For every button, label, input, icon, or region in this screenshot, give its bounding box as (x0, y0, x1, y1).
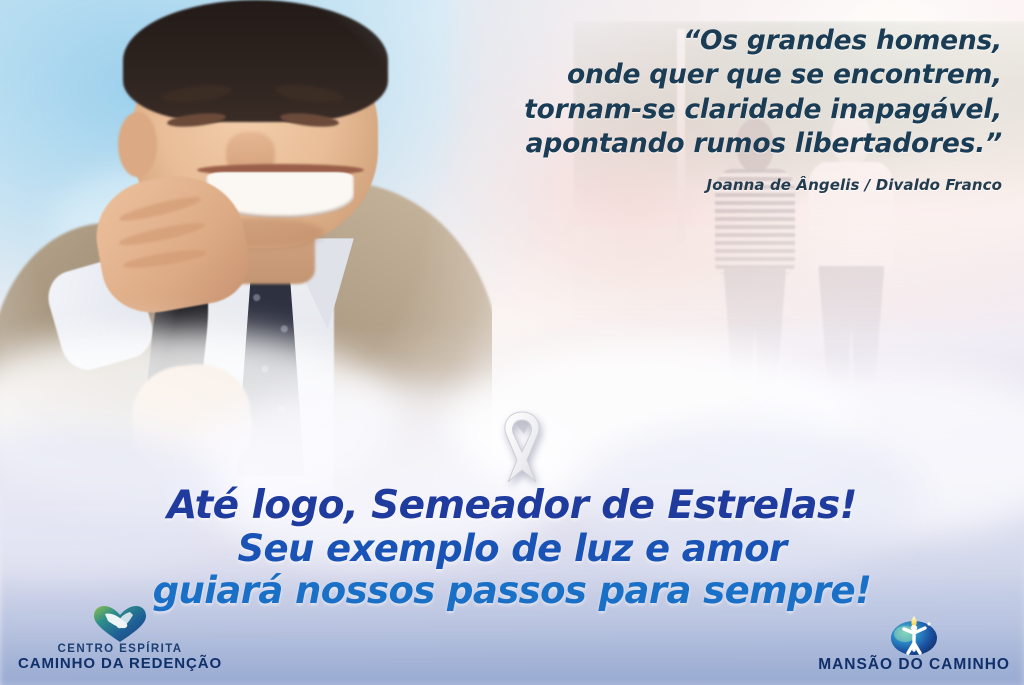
headline-line-3: guiará nossos passos para sempre! (0, 572, 1024, 610)
quote-line-2: onde quer que se encontrem, (442, 58, 1002, 92)
ground (573, 275, 1024, 431)
white-mourning-ribbon-icon (486, 404, 558, 486)
logo-mansao-do-caminho[interactable]: MANSÃO DO CAMINHO (818, 610, 1010, 673)
portrait-divaldo-franco (0, 0, 492, 507)
legs (724, 269, 786, 385)
hair (123, 0, 388, 122)
logo-centro-espirita-caminho-da-redencao[interactable]: CENTRO ESPÍRITA CAMINHO DA REDENÇÃO (18, 605, 222, 673)
globe-figure-flame-icon (887, 610, 941, 656)
headline-block: Até logo, Semeador de Estrelas! Seu exem… (0, 486, 1024, 609)
headline-line-2: Seu exemplo de luz e amor (0, 530, 1024, 568)
logo-right-text: MANSÃO DO CAMINHO (818, 656, 1010, 673)
logo-right-line-1: MANSÃO DO CAMINHO (818, 656, 1010, 673)
memorial-poster: “Os grandes homens, onde quer que se enc… (0, 0, 1024, 685)
headline-line-1: Até logo, Semeador de Estrelas! (0, 486, 1024, 526)
quote-line-1: “Os grandes homens, (442, 24, 1002, 58)
quote-line-3: tornam-se claridade inapagável, (442, 93, 1002, 127)
logo-left-text: CENTRO ESPÍRITA CAMINHO DA REDENÇÃO (18, 643, 222, 673)
quote-block: “Os grandes homens, onde quer que se enc… (442, 24, 1002, 194)
legs (818, 266, 884, 385)
heart-hands-icon (92, 605, 148, 643)
quote-line-4: apontando rumos libertadores.” (442, 127, 1002, 161)
quote-attribution: Joanna de Ângelis / Divaldo Franco (442, 176, 1002, 194)
logo-left-line-2: CAMINHO DA REDENÇÃO (18, 656, 222, 673)
